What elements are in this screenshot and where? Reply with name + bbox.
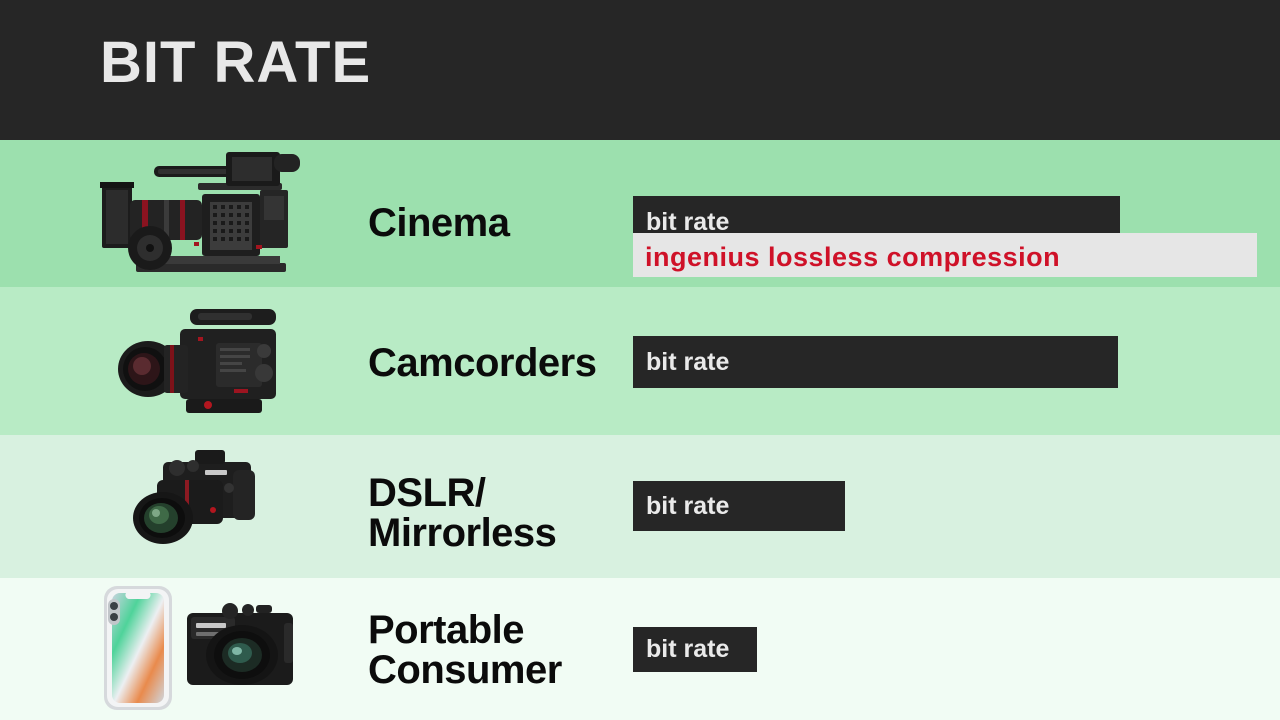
bitrate-bar-portable-consumer: bit rate xyxy=(633,627,757,672)
smartphone-and-compact-camera-icon xyxy=(92,583,297,713)
mirrorless-camera-icon xyxy=(133,448,278,563)
slide-root: BIT RATE xyxy=(0,0,1280,720)
bitrate-bar-label: bit rate xyxy=(633,348,729,377)
camcorder-icon xyxy=(112,303,290,423)
page-title: BIT RATE xyxy=(100,34,371,92)
category-label-camcorders: Camcorders xyxy=(368,343,596,383)
cinema-camera-rig-icon xyxy=(98,150,313,285)
bitrate-bar-label: bit rate xyxy=(633,635,729,664)
callout-text-lossless-compression: ingenius lossless compression xyxy=(645,242,1060,273)
category-label-cinema: Cinema xyxy=(368,203,510,243)
bitrate-bar-dslr-mirrorless: bit rate xyxy=(633,481,845,531)
category-label-dslr-mirrorless: DSLR/ Mirrorless xyxy=(368,473,556,553)
bitrate-bar-camcorders: bit rate xyxy=(633,336,1118,388)
category-label-portable-consumer: Portable Consumer xyxy=(368,610,562,690)
bitrate-bar-label: bit rate xyxy=(633,492,729,521)
slide-header: BIT RATE xyxy=(0,0,1280,140)
